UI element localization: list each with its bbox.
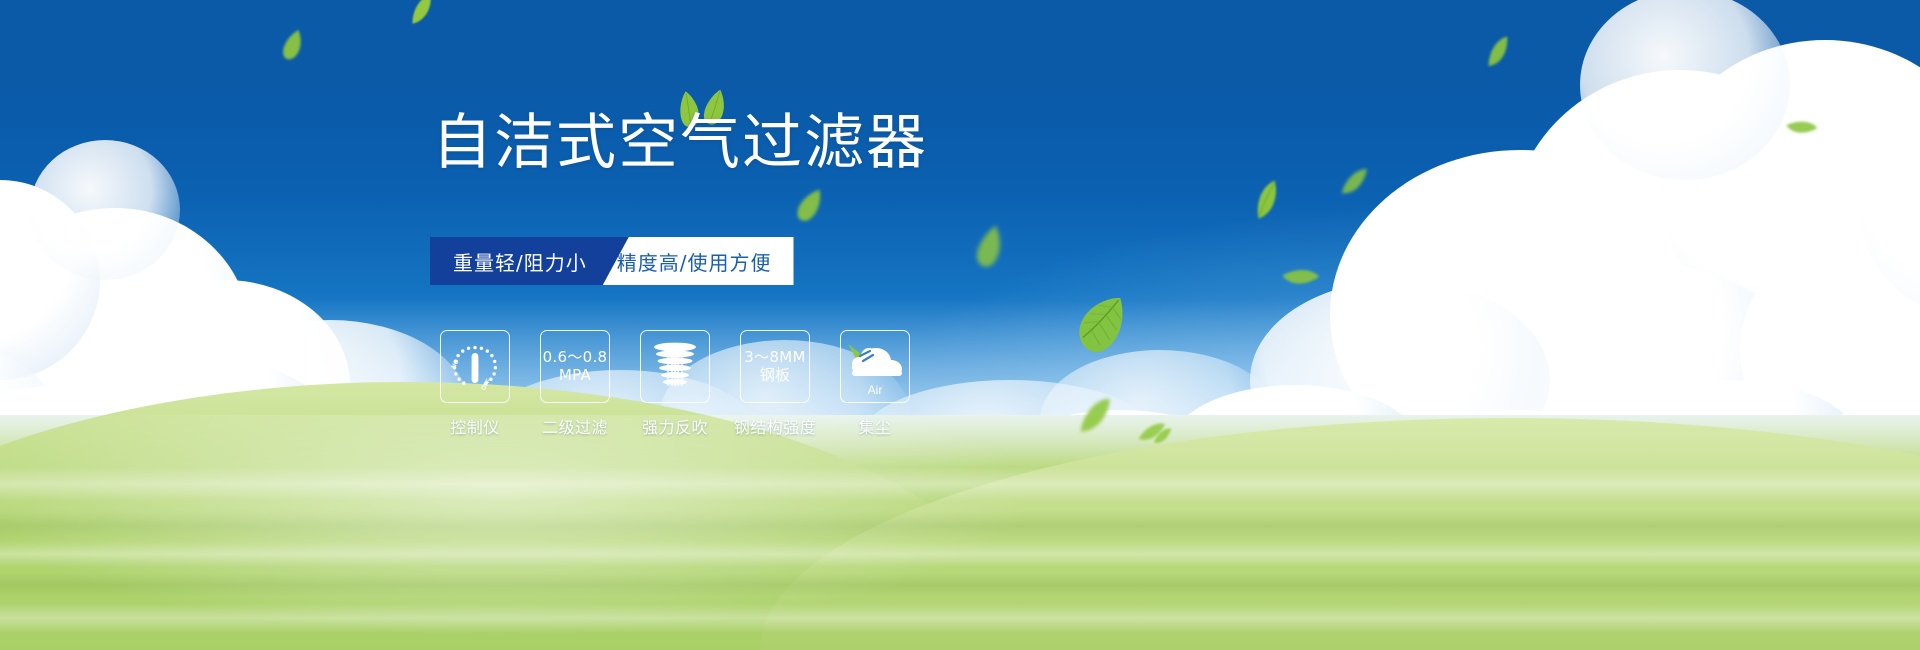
feature-label: 集尘 [858,414,891,438]
feature-label: 强力反吹 [642,414,708,438]
subtitle-badge-secondary-label: 精度高/使用方便 [617,247,772,276]
feature-item-pressure: 0.6～0.8 MPA 二级过滤 [540,330,610,438]
feature-icon-box: NO OFF [440,330,510,403]
subtitle-badge-primary-label: 重量轻/阻力小 [453,247,587,276]
pressure-text-icon: 0.6～0.8 MPA [543,349,608,384]
feature-icon-row: NO OFF 控制仪 0.6～0.8 MPA 二级过滤 [440,330,910,438]
feature-label: 控制仪 [450,414,500,438]
pressure-value-line-2: MPA [543,367,608,385]
control-dial-icon: NO OFF [447,339,503,395]
page-title: 自洁式空气过滤器 [432,113,928,173]
hero-banner: 自洁式空气过滤器 重量轻/阻力小 精度高/使用方便 [0,0,1920,650]
subtitle-badge-group: 重量轻/阻力小 精度高/使用方便 [430,237,794,285]
air-cloud-icon [846,342,904,384]
air-badge-label: Air [841,383,909,397]
feature-item-dust: Air 集尘 [840,330,910,438]
steel-value-line-1: 3～8MM [744,348,805,366]
subtitle-badge-secondary: 精度高/使用方便 [603,237,794,285]
feature-icon-box [640,330,710,403]
banner-copy: 自洁式空气过滤器 重量轻/阻力小 精度高/使用方便 [0,0,1920,650]
steel-text-icon: 3～8MM 钢板 [744,349,805,384]
feature-item-control-dial: NO OFF 控制仪 [440,330,510,438]
feature-label: 二级过滤 [542,414,608,438]
steel-value-line-2: 钢板 [744,367,805,385]
feature-icon-box: 0.6～0.8 MPA [540,330,610,403]
feature-label: 钢结构强度 [734,414,817,438]
filter-stack-icon [650,340,700,394]
pressure-value-line-1: 0.6～0.8 [543,348,608,366]
feature-item-steel: 3～8MM 钢板 钢结构强度 [740,330,810,438]
svg-text:NO: NO [450,358,461,370]
feature-icon-box: Air [840,330,910,403]
feature-item-backblow: 强力反吹 [640,330,710,438]
feature-icon-box: 3～8MM 钢板 [740,330,810,403]
subtitle-badge-primary: 重量轻/阻力小 [430,237,629,285]
